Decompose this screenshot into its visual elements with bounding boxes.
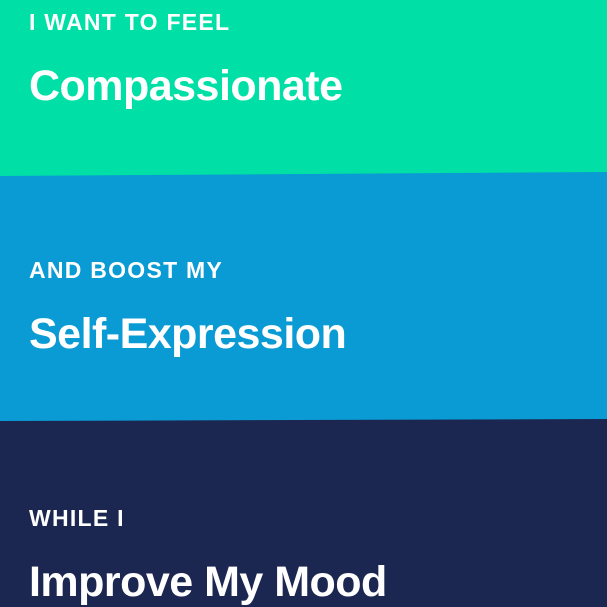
section-boost-headline[interactable]: Self-Expression — [29, 313, 346, 356]
section-boost: AND BOOST MY Self-Expression — [29, 259, 346, 356]
section-while-eyebrow: WHILE I — [29, 507, 387, 530]
section-feel: I WANT TO FEEL Compassionate — [29, 11, 342, 108]
card-content: I WANT TO FEEL Compassionate AND BOOST M… — [0, 0, 607, 607]
section-feel-headline[interactable]: Compassionate — [29, 65, 342, 108]
section-feel-eyebrow: I WANT TO FEEL — [29, 11, 342, 34]
section-while: WHILE I Improve My Mood — [29, 507, 387, 604]
mood-intention-card: I WANT TO FEEL Compassionate AND BOOST M… — [0, 0, 607, 607]
section-while-headline[interactable]: Improve My Mood — [29, 561, 387, 604]
section-boost-eyebrow: AND BOOST MY — [29, 259, 346, 282]
